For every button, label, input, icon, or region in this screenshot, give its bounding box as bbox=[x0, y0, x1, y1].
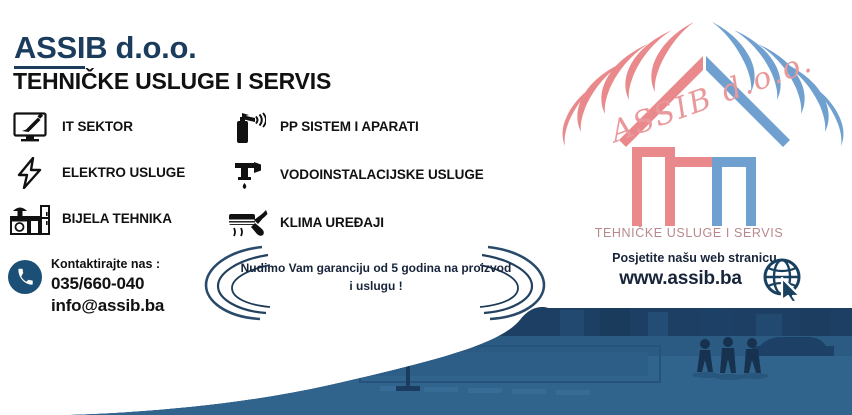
kitchen-appliances-icon bbox=[10, 201, 50, 237]
brand-subtitle: TEHNIČKE USLUGE I SERVIS bbox=[13, 68, 331, 95]
guarantee-banner: Nudimo Vam garanciju od 5 godina na proi… bbox=[200, 243, 550, 323]
contact-lead: Kontaktirajte nas : bbox=[51, 256, 164, 273]
phone-icon[interactable] bbox=[8, 260, 42, 294]
contact-email[interactable]: info@assib.ba bbox=[51, 295, 164, 317]
faucet-icon bbox=[228, 157, 268, 193]
service-item-klima-uredaji: KLIMA UREĐAJI bbox=[228, 200, 528, 246]
services-column-right: PP SISTEM I APARATI VODOINSTALACIJSKE US… bbox=[228, 104, 528, 246]
brand-title-underlined: ASSI bbox=[14, 30, 85, 69]
lightning-bolt-icon bbox=[10, 155, 50, 191]
guarantee-text: Nudimo Vam garanciju od 5 godina na proi… bbox=[240, 259, 512, 295]
service-label: ELEKTRO USLUGE bbox=[62, 165, 185, 181]
service-item-bijela-tehnika: BIJELA TEHNIKA bbox=[10, 196, 240, 242]
contact-text: Kontaktirajte nas : 035/660-040 info@ass… bbox=[51, 256, 164, 316]
service-item-pp-sistem: PP SISTEM I APARATI bbox=[228, 104, 528, 150]
air-conditioner-wrench-icon bbox=[228, 205, 268, 241]
fire-extinguisher-alarm-icon bbox=[228, 109, 268, 145]
service-label: BIJELA TEHNIKA bbox=[62, 211, 172, 227]
service-item-vodoinstalacijske: VODOINSTALACIJSKE USLUGE bbox=[228, 150, 528, 200]
contact-block: Kontaktirajte nas : 035/660-040 info@ass… bbox=[8, 256, 164, 316]
house-flames-logo bbox=[560, 8, 852, 248]
globe-cursor-icon[interactable] bbox=[760, 256, 808, 302]
services-column-left: IT SEKTOR ELEKTRO USLUGE bbox=[10, 104, 240, 242]
service-label: VODOINSTALACIJSKE USLUGE bbox=[280, 167, 484, 183]
monitor-brush-icon bbox=[10, 109, 50, 145]
assib-promo-banner: ASSIB d.o.o. TEHNIČKE USLUGE I SERVIS IT… bbox=[0, 0, 852, 415]
service-item-it-sektor: IT SEKTOR bbox=[10, 104, 240, 150]
logo-tagline: TEHNIČKE USLUGE I SERVIS bbox=[560, 226, 818, 240]
service-label: KLIMA UREĐAJI bbox=[280, 215, 384, 231]
service-item-elektro-usluge: ELEKTRO USLUGE bbox=[10, 150, 240, 196]
brand-title-rest: B d.o.o. bbox=[85, 30, 196, 65]
service-label: IT SEKTOR bbox=[62, 119, 133, 135]
company-logo: ASSIB d.o.o. TEHNIČKE USLUGE I SERVIS bbox=[560, 8, 852, 248]
service-label: PP SISTEM I APARATI bbox=[280, 119, 419, 135]
page-title: ASSIB d.o.o. bbox=[14, 30, 196, 66]
contact-phone[interactable]: 035/660-040 bbox=[51, 273, 164, 295]
